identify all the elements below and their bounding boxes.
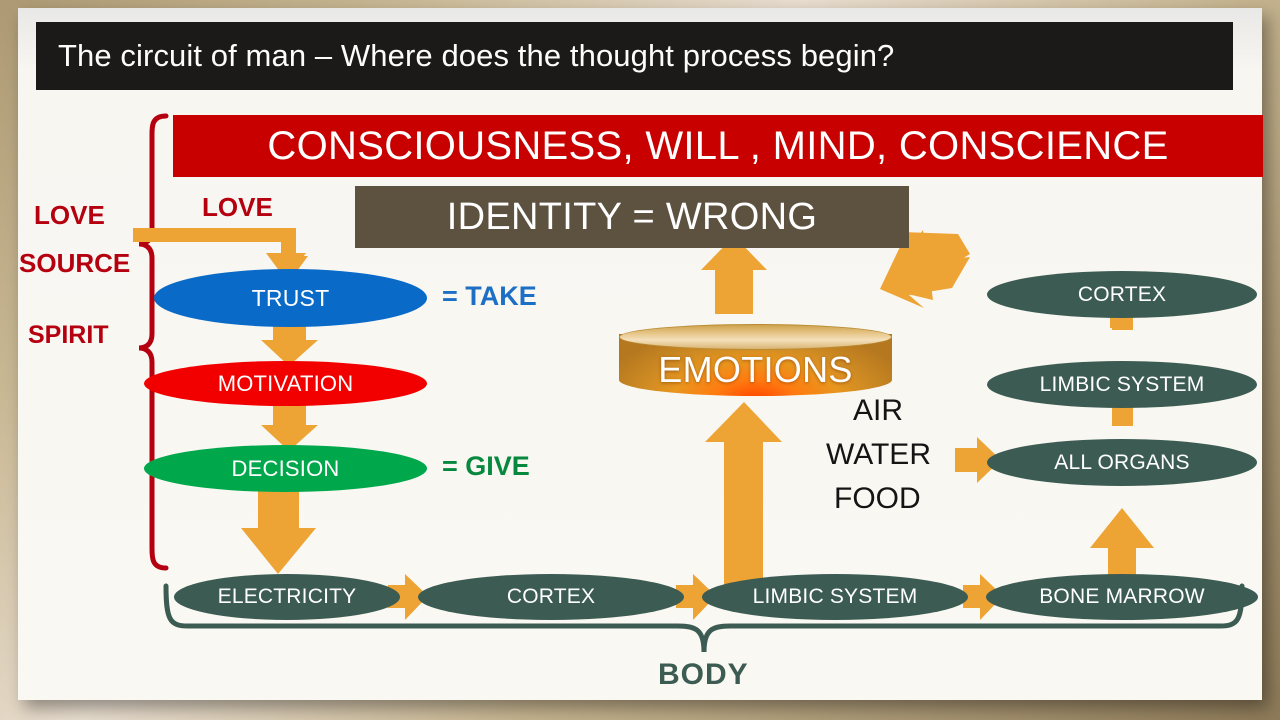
love-arrow-label: LOVE <box>202 192 273 223</box>
arrow-decision-to-electricity <box>241 488 316 574</box>
spirit-bracket <box>139 116 166 568</box>
identity-banner: IDENTITY = WRONG <box>355 186 909 248</box>
page-title: The circuit of man – Where does the thou… <box>36 38 894 74</box>
node-decision[interactable]: DECISION <box>144 445 427 492</box>
arrow-motivation-to-decision <box>261 403 318 451</box>
node-electricity[interactable]: ELECTRICITY <box>174 574 400 620</box>
intake-air-label: AIR <box>853 394 903 428</box>
intake-water-label: WATER <box>826 438 931 472</box>
node-all-organs[interactable]: ALL ORGANS <box>987 439 1257 486</box>
take-label: = TAKE <box>442 281 537 312</box>
node-cortex-bottom[interactable]: CORTEX <box>418 574 684 620</box>
spirit-label: SPIRIT <box>28 321 109 350</box>
emotions-label: EMOTIONS <box>619 342 892 398</box>
node-bone-marrow[interactable]: BONE MARROW <box>986 574 1258 620</box>
consciousness-banner: CONSCIOUSNESS, WILL , MIND, CONSCIENCE <box>173 115 1263 177</box>
node-motivation[interactable]: MOTIVATION <box>144 361 427 406</box>
node-limbic-system-right[interactable]: LIMBIC SYSTEM <box>987 361 1257 408</box>
love-source-label-line2: SOURCE <box>19 248 130 279</box>
slide-title-bar: The circuit of man – Where does the thou… <box>36 22 1233 90</box>
node-limbic-system-bottom[interactable]: LIMBIC SYSTEM <box>702 574 968 620</box>
slide-canvas: The circuit of man – Where does the thou… <box>18 8 1262 700</box>
love-source-label-line1: LOVE <box>34 200 105 231</box>
node-trust[interactable]: TRUST <box>154 269 427 327</box>
give-label: = GIVE <box>442 451 530 482</box>
arrow-limbic-to-emotions <box>705 402 782 592</box>
body-bracket-label: BODY <box>658 658 749 692</box>
emotions-cylinder[interactable]: EMOTIONS <box>619 324 892 404</box>
intake-food-label: FOOD <box>834 482 921 516</box>
node-cortex-right[interactable]: CORTEX <box>987 271 1257 318</box>
